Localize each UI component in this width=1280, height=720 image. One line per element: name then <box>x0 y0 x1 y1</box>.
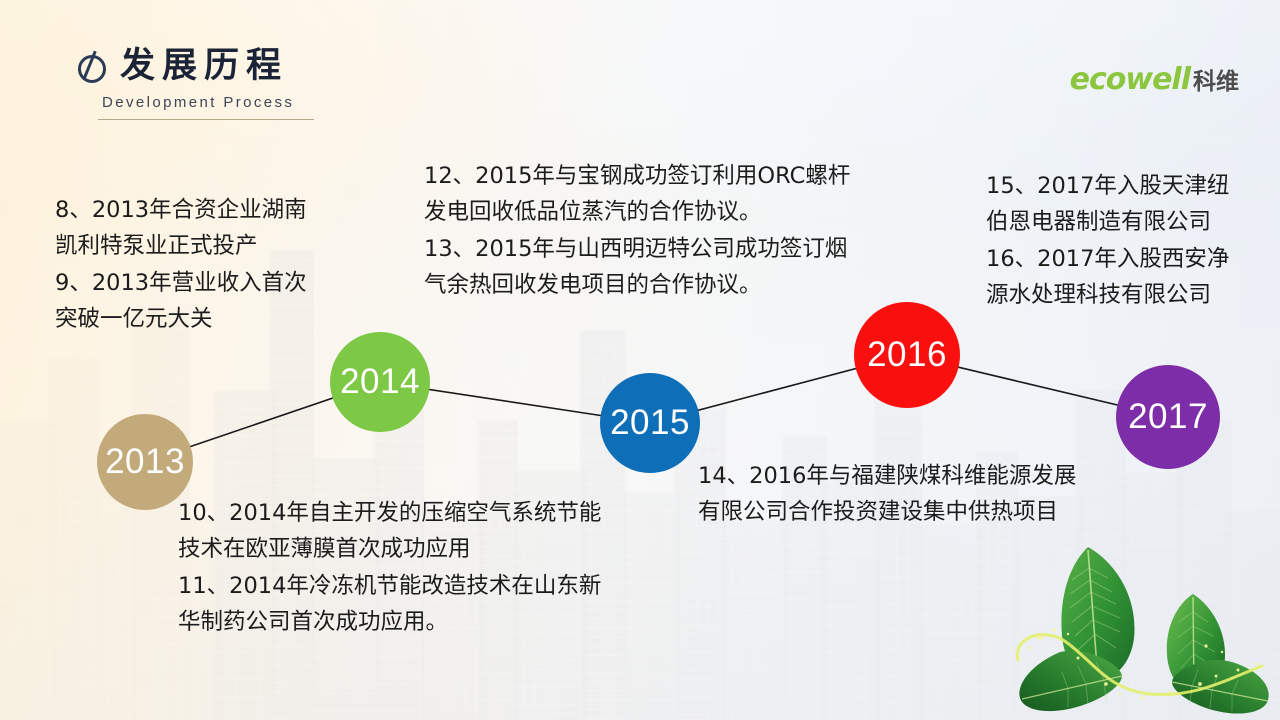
timeline-node-2016[interactable]: 2016 <box>854 302 960 408</box>
text-block-right-bottom: 14、2016年与福建陕煤科维能源发展 有限公司合作投资建设集中供热项目 <box>698 458 1158 531</box>
timeline-node-label: 2014 <box>340 362 420 402</box>
text-block-left-bottom: 10、2014年自主开发的压缩空气系统节能 技术在欧亚薄膜首次成功应用 11、2… <box>178 495 698 641</box>
timeline-node-2017[interactable]: 2017 <box>1116 365 1220 469</box>
timeline-node-2014[interactable]: 2014 <box>330 332 430 432</box>
timeline-node-label: 2013 <box>105 442 185 482</box>
timeline-node-label: 2015 <box>610 403 690 443</box>
timeline-node-label: 2016 <box>867 335 947 375</box>
text-block-center-top: 12、2015年与宝钢成功签订利用ORC螺杆 发电回收低品位蒸汽的合作协议。 1… <box>424 158 954 304</box>
green-leaves-decoration <box>1010 534 1272 720</box>
timeline-node-2015[interactable]: 2015 <box>600 373 700 473</box>
text-block-right-top: 15、2017年入股天津纽 伯恩电器制造有限公司 16、2017年入股西安净 源… <box>986 168 1266 314</box>
slide-canvas: 发展历程 Development Process ecowell 科维 2013… <box>0 0 1280 720</box>
text-block-left-top: 8、2013年合资企业湖南 凯利特泵业正式投产 9、2013年营业收入首次 突破… <box>55 192 385 338</box>
timeline-node-label: 2017 <box>1128 397 1208 437</box>
